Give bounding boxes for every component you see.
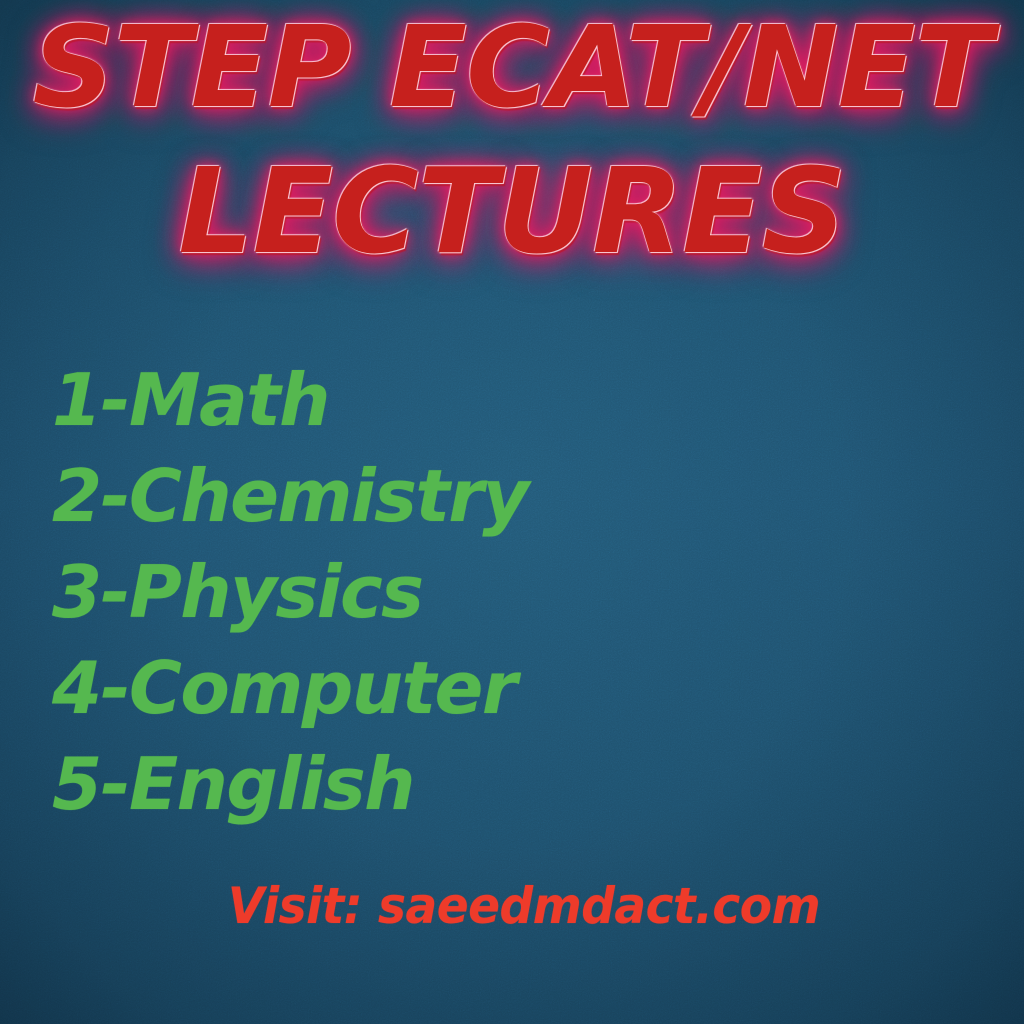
list-item: 2-Chemistry	[52, 448, 1004, 544]
poster-canvas: STEP ECAT/NET LECTURES 1-Math 2-Chemistr…	[0, 0, 1024, 1024]
title-line-primary: STEP ECAT/NET	[0, 14, 1024, 124]
title-line-secondary: LECTURES	[0, 154, 1024, 270]
website-visit-text: Visit: saeedmdact.com	[228, 880, 820, 933]
list-item: 1-Math	[52, 352, 1004, 448]
poster-title: STEP ECAT/NET LECTURES	[0, 14, 1024, 269]
list-item: 3-Physics	[52, 544, 1004, 640]
poster-content: STEP ECAT/NET LECTURES 1-Math 2-Chemistr…	[0, 0, 1024, 1024]
list-item: 4-Computer	[52, 640, 1004, 736]
subject-list: 1-Math 2-Chemistry 3-Physics 4-Computer …	[52, 352, 1004, 832]
footer: Visit: saeedmdact.com	[0, 880, 1024, 933]
list-item: 5-English	[52, 736, 1004, 832]
